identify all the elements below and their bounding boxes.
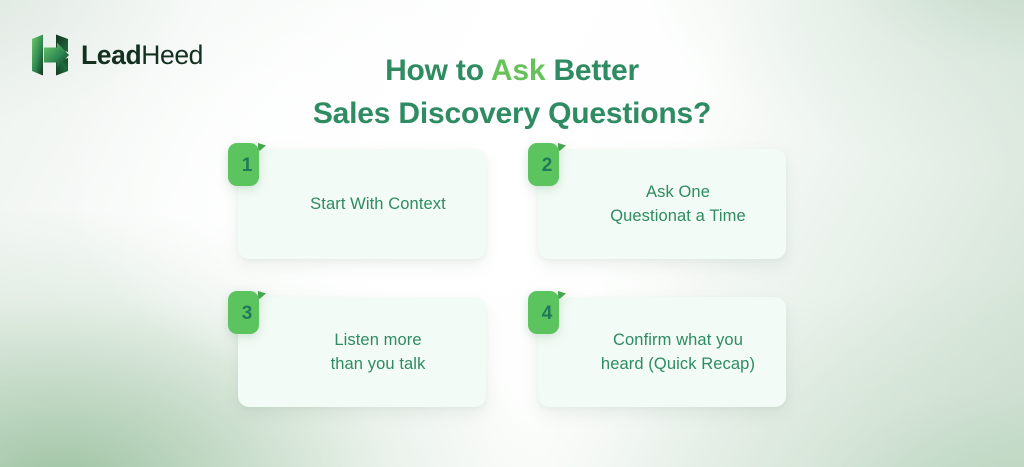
step-card-4[interactable]: 4 Confirm what you heard (Quick Recap)	[538, 297, 786, 407]
step-number-3: 3	[228, 289, 266, 336]
brand-wordmark: LeadHeed	[81, 42, 203, 69]
step-card-3[interactable]: 3 Listen more than you talk	[238, 297, 486, 407]
brand-name-bold: Lead	[81, 40, 141, 70]
step-badge-1: 1	[228, 141, 266, 188]
title-line1-after: Better	[545, 54, 639, 87]
step-badge-4: 4	[528, 289, 566, 336]
step-number-1: 1	[228, 141, 266, 188]
step-card-2[interactable]: 2 Ask One Questionat a Time	[538, 149, 786, 259]
step-number-4: 4	[528, 289, 566, 336]
leadheed-logo-mark-icon	[30, 33, 72, 77]
step-label-4: Confirm what you heard (Quick Recap)	[555, 328, 769, 376]
page-title: How to Ask BetterSales Discovery Questio…	[268, 50, 756, 136]
step-number-2: 2	[528, 141, 566, 188]
step-label-1: Start With Context	[264, 192, 460, 216]
step-badge-3: 3	[228, 289, 266, 336]
steps-grid: 1 Start With Context 2 Ask One Questiona…	[238, 149, 793, 411]
step-card-1[interactable]: 1 Start With Context	[238, 149, 486, 259]
title-accent-word: Ask	[491, 54, 545, 87]
brand-name-light: Heed	[141, 40, 203, 70]
title-line2: Sales Discovery Questions?	[313, 97, 711, 130]
step-label-3: Listen more than you talk	[285, 328, 440, 376]
step-label-2: Ask One Questionat a Time	[564, 180, 760, 228]
step-badge-2: 2	[528, 141, 566, 188]
infographic-canvas: LeadHeed How to Ask BetterSales Discover…	[0, 0, 1024, 467]
title-line1-before: How to	[385, 54, 491, 87]
brand-logo: LeadHeed	[30, 33, 203, 77]
